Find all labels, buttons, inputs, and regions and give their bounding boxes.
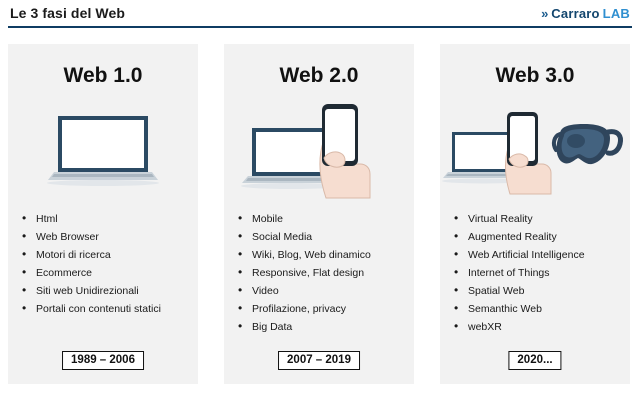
list-item: Profilazione, privacy: [234, 300, 414, 318]
slide-header: Le 3 fasi del Web » CarraroLAB: [0, 0, 640, 30]
columns-container: Web 1.0 Html Web Browser Motori di rice: [0, 34, 640, 384]
list-item: Mobile: [234, 210, 414, 228]
list-item: Semanthic Web: [450, 300, 630, 318]
bullet-list: Mobile Social Media Wiki, Blog, Web dina…: [234, 210, 414, 336]
list-item: webXR: [450, 318, 630, 336]
list-item: Web Browser: [18, 228, 198, 246]
year-badge: 2007 – 2019: [278, 351, 360, 370]
list-item: Web Artificial Intelligence: [450, 246, 630, 264]
column-title: Web 2.0: [224, 64, 414, 88]
column-title: Web 3.0: [440, 64, 630, 88]
list-item: Html: [18, 210, 198, 228]
list-item: Virtual Reality: [450, 210, 630, 228]
double-chevron-right-icon: »: [541, 7, 546, 20]
year-badge: 2020...: [508, 351, 561, 370]
laptop-icon: [8, 96, 198, 206]
list-item: Social Media: [234, 228, 414, 246]
column-web-1: Web 1.0 Html Web Browser Motori di rice: [8, 44, 198, 384]
list-item: Portali con contenuti statici: [18, 300, 198, 318]
bullet-list: Virtual Reality Augmented Reality Web Ar…: [450, 210, 630, 336]
list-item: Siti web Unidirezionali: [18, 282, 198, 300]
slide: Le 3 fasi del Web » CarraroLAB Web 1.0: [0, 0, 640, 400]
column-web-3: Web 3.0: [440, 44, 630, 384]
list-item: Big Data: [234, 318, 414, 336]
list-item: Video: [234, 282, 414, 300]
list-item: Spatial Web: [450, 282, 630, 300]
bullet-list: Html Web Browser Motori di ricerca Ecomm…: [18, 210, 198, 318]
header-divider: [8, 26, 632, 28]
laptop-and-hand-holding-smartphone-icon: [224, 96, 414, 206]
list-item: Responsive, Flat design: [234, 264, 414, 282]
year-badge: 1989 – 2006: [62, 351, 144, 370]
page-title: Le 3 fasi del Web: [10, 5, 125, 21]
laptop-smartphone-and-vr-headset-icon: [440, 96, 630, 206]
brand-name-primary: Carraro: [551, 6, 599, 21]
list-item: Wiki, Blog, Web dinamico: [234, 246, 414, 264]
list-item: Augmented Reality: [450, 228, 630, 246]
list-item: Ecommerce: [18, 264, 198, 282]
column-title: Web 1.0: [8, 64, 198, 88]
brand-name-secondary: LAB: [603, 6, 630, 21]
column-web-2: Web 2.0: [224, 44, 414, 384]
list-item: Internet of Things: [450, 264, 630, 282]
list-item: Motori di ricerca: [18, 246, 198, 264]
brand-logo: » CarraroLAB: [541, 6, 630, 21]
